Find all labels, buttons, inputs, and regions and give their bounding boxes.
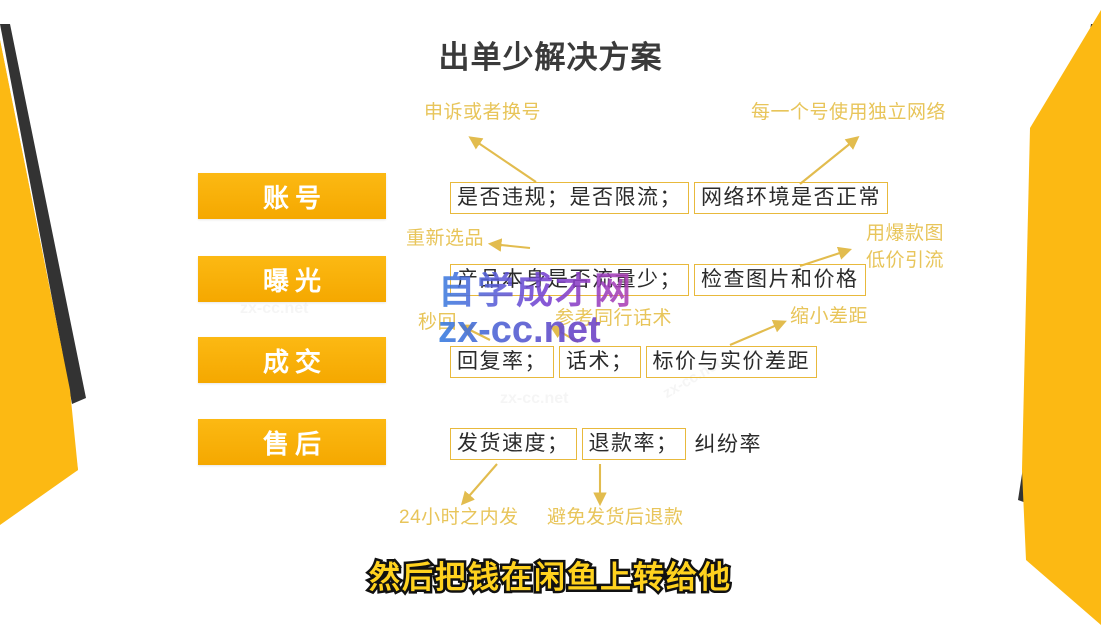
note-hot-image: 用爆款图 <box>866 222 944 246</box>
category-pill-deal[interactable]: 成交 <box>198 337 386 383</box>
category-label: 曝光 <box>257 261 327 298</box>
note-ship-24h: 24小时之内发 <box>399 506 519 530</box>
item-chip[interactable]: 产品本身是否流量少； <box>450 264 689 296</box>
item-plain: 纠纷率 <box>695 433 763 456</box>
decorative-edges <box>0 0 1101 625</box>
category-pill-account[interactable]: 账号 <box>198 173 386 219</box>
note-appeal-or-change: 申诉或者换号 <box>424 101 541 125</box>
item-chip[interactable]: 发货速度； <box>450 428 577 460</box>
category-label: 账号 <box>257 178 327 215</box>
item-chip[interactable]: 退款率； <box>582 428 686 460</box>
page-title: 出单少解决方案 <box>0 32 1101 77</box>
item-row-account: 是否违规；是否限流； 网络环境是否正常 <box>450 182 888 214</box>
category-pill-aftersales[interactable]: 售后 <box>198 419 386 465</box>
connector-arrows <box>0 0 1101 625</box>
category-pill-exposure[interactable]: 曝光 <box>198 256 386 302</box>
item-chip[interactable]: 是否违规；是否限流； <box>450 182 689 214</box>
note-instant-reply: 秒回 <box>418 311 457 335</box>
item-chip[interactable]: 标价与实价差距 <box>646 346 818 378</box>
category-label: 成交 <box>257 342 327 379</box>
item-row-exposure: 产品本身是否流量少； 检查图片和价格 <box>450 264 866 296</box>
item-chip[interactable]: 检查图片和价格 <box>694 264 866 296</box>
subtitle-caption: 然后把钱在闲鱼上转给他 <box>0 552 1101 597</box>
slide-canvas: 出单少解决方案 zx-cc.n <box>0 0 1101 625</box>
faint-watermark-1: zx-cc.net <box>500 390 568 408</box>
item-chip[interactable]: 话术； <box>559 346 641 378</box>
item-chip[interactable]: 网络环境是否正常 <box>694 182 888 214</box>
note-reselect-product: 重新选品 <box>406 227 484 251</box>
item-chip[interactable]: 回复率； <box>450 346 554 378</box>
note-peer-scripts: 参考同行话术 <box>555 307 672 331</box>
note-independent-network: 每一个号使用独立网络 <box>751 101 946 125</box>
faint-watermark-2: zx-cc.net <box>240 300 308 318</box>
item-row-aftersales: 发货速度； 退款率； 纠纷率 <box>450 428 762 460</box>
note-avoid-refund: 避免发货后退款 <box>547 506 684 530</box>
note-low-price-traffic: 低价引流 <box>866 249 944 273</box>
note-narrow-gap: 缩小差距 <box>790 305 868 329</box>
item-row-deal: 回复率； 话术； 标价与实价差距 <box>450 346 817 378</box>
category-label: 售后 <box>257 424 327 461</box>
